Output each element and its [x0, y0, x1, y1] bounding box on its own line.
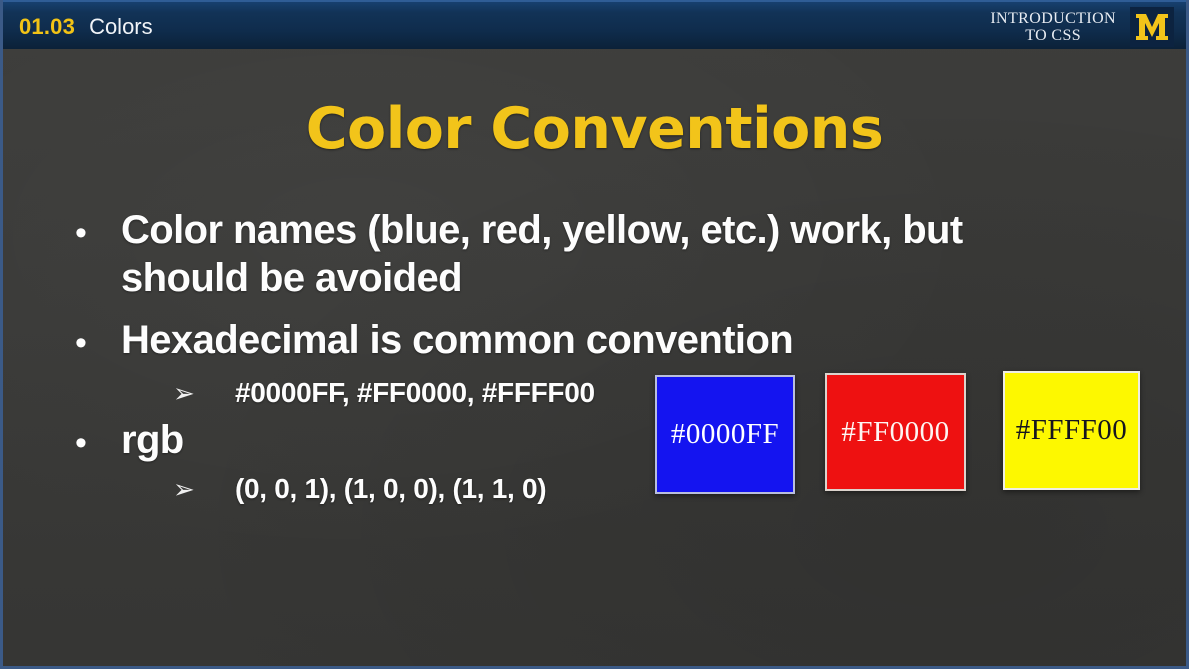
bullet-dot-icon: •: [65, 316, 121, 370]
sub-text-rgb-examples: (0, 0, 1), (1, 0, 0), (1, 1, 0): [235, 472, 546, 506]
page-title: Color Conventions: [3, 96, 1186, 162]
sub-text-hex-examples: #0000FF, #FF0000, #FFFF00: [235, 376, 595, 410]
color-swatch-red-label: #FF0000: [841, 416, 949, 449]
slide-header-bar: 01.03 Colors INTRODUCTION TO CSS: [3, 0, 1186, 49]
header-left-group: 01.03 Colors: [19, 2, 153, 49]
slide-canvas: 01.03 Colors INTRODUCTION TO CSS Color C…: [0, 0, 1189, 669]
lesson-title: Colors: [89, 14, 153, 40]
bullet-dot-icon: •: [65, 416, 121, 470]
color-swatch-blue-label: #0000FF: [671, 418, 779, 451]
course-name-line2: TO CSS: [990, 27, 1116, 44]
michigan-m-logo: [1130, 7, 1174, 47]
color-swatch-blue: #0000FF: [655, 375, 795, 494]
bullet-text-rgb: rgb: [121, 416, 184, 464]
arrow-bullet-icon: ➢: [173, 472, 235, 506]
course-name: INTRODUCTION TO CSS: [990, 10, 1116, 44]
lesson-number: 01.03: [19, 14, 75, 40]
course-name-line1: INTRODUCTION: [990, 10, 1116, 27]
color-swatch-red: #FF0000: [825, 373, 966, 491]
arrow-bullet-icon: ➢: [173, 376, 235, 410]
bullet-text-color-names: Color names (blue, red, yellow, etc.) wo…: [121, 206, 1075, 302]
list-item: • Color names (blue, red, yellow, etc.) …: [65, 206, 1075, 302]
bullet-text-hexadecimal: Hexadecimal is common convention: [121, 316, 793, 364]
bullet-dot-icon: •: [65, 206, 121, 260]
list-item: • Hexadecimal is common convention: [65, 316, 1075, 370]
color-swatch-yellow: #FFFF00: [1003, 371, 1140, 490]
color-swatch-yellow-label: #FFFF00: [1016, 414, 1128, 447]
header-right-group: INTRODUCTION TO CSS: [990, 2, 1174, 49]
